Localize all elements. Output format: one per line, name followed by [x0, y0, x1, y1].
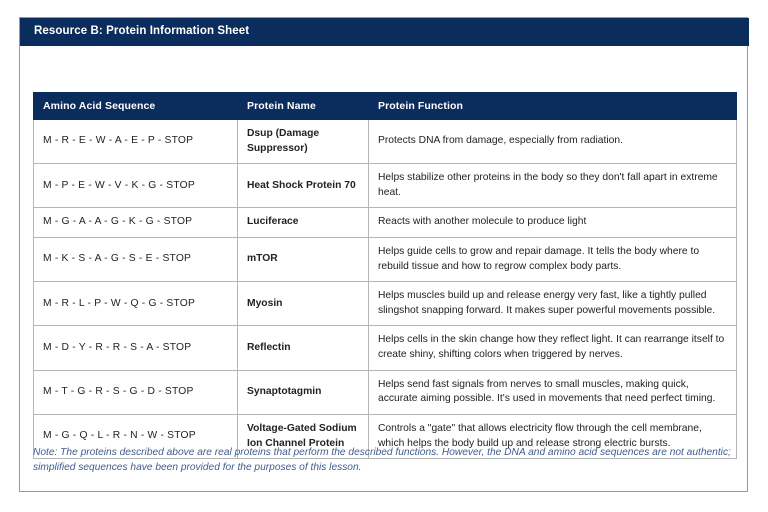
table-row: M - G - A - A - G - K - G - STOP Lucifer… [34, 208, 737, 238]
protein-table-container: Amino Acid Sequence Protein Name Protein… [33, 92, 736, 459]
protein-table: Amino Acid Sequence Protein Name Protein… [33, 92, 737, 459]
page-banner: Resource B: Protein Information Sheet [20, 18, 749, 46]
cell-protein-function: Helps send fast signals from nerves to s… [369, 370, 737, 414]
cell-protein-name: Synaptotagmin [238, 370, 369, 414]
table-row: M - R - L - P - W - Q - G - STOP Myosin … [34, 282, 737, 326]
cell-protein-name: mTOR [238, 238, 369, 282]
cell-protein-function: Helps cells in the skin change how they … [369, 326, 737, 370]
cell-amino-acid-sequence: M - K - S - A - G - S - E - STOP [34, 238, 238, 282]
cell-amino-acid-sequence: M - G - A - A - G - K - G - STOP [34, 208, 238, 238]
resource-sheet-page: Resource B: Protein Information Sheet Am… [19, 17, 748, 492]
cell-protein-name: Dsup (Damage Suppressor) [238, 120, 369, 164]
cell-protein-function: Helps muscles build up and release energ… [369, 282, 737, 326]
cell-protein-function: Reacts with another molecule to produce … [369, 208, 737, 238]
cell-protein-function: Helps guide cells to grow and repair dam… [369, 238, 737, 282]
footnote-text: Note: The proteins described above are r… [33, 445, 733, 476]
cell-protein-name: Heat Shock Protein 70 [238, 164, 369, 208]
table-row: M - T - G - R - S - G - D - STOP Synapto… [34, 370, 737, 414]
cell-amino-acid-sequence: M - R - E - W - A - E - P - STOP [34, 120, 238, 164]
table-row: M - K - S - A - G - S - E - STOP mTOR He… [34, 238, 737, 282]
cell-amino-acid-sequence: M - T - G - R - S - G - D - STOP [34, 370, 238, 414]
cell-protein-name: Myosin [238, 282, 369, 326]
cell-protein-function: Helps stabilize other proteins in the bo… [369, 164, 737, 208]
cell-protein-name: Luciferace [238, 208, 369, 238]
cell-amino-acid-sequence: M - D - Y - R - R - S - A - STOP [34, 326, 238, 370]
column-header-protein-name: Protein Name [238, 93, 369, 120]
table-header-row: Amino Acid Sequence Protein Name Protein… [34, 93, 737, 120]
column-header-amino-acid-sequence: Amino Acid Sequence [34, 93, 238, 120]
page-title: Resource B: Protein Information Sheet [34, 25, 249, 37]
cell-amino-acid-sequence: M - P - E - W - V - K - G - STOP [34, 164, 238, 208]
table-row: M - R - E - W - A - E - P - STOP Dsup (D… [34, 120, 737, 164]
cell-amino-acid-sequence: M - R - L - P - W - Q - G - STOP [34, 282, 238, 326]
table-row: M - P - E - W - V - K - G - STOP Heat Sh… [34, 164, 737, 208]
cell-protein-function: Protects DNA from damage, especially fro… [369, 120, 737, 164]
column-header-protein-function: Protein Function [369, 93, 737, 120]
cell-protein-name: Reflectin [238, 326, 369, 370]
table-row: M - D - Y - R - R - S - A - STOP Reflect… [34, 326, 737, 370]
